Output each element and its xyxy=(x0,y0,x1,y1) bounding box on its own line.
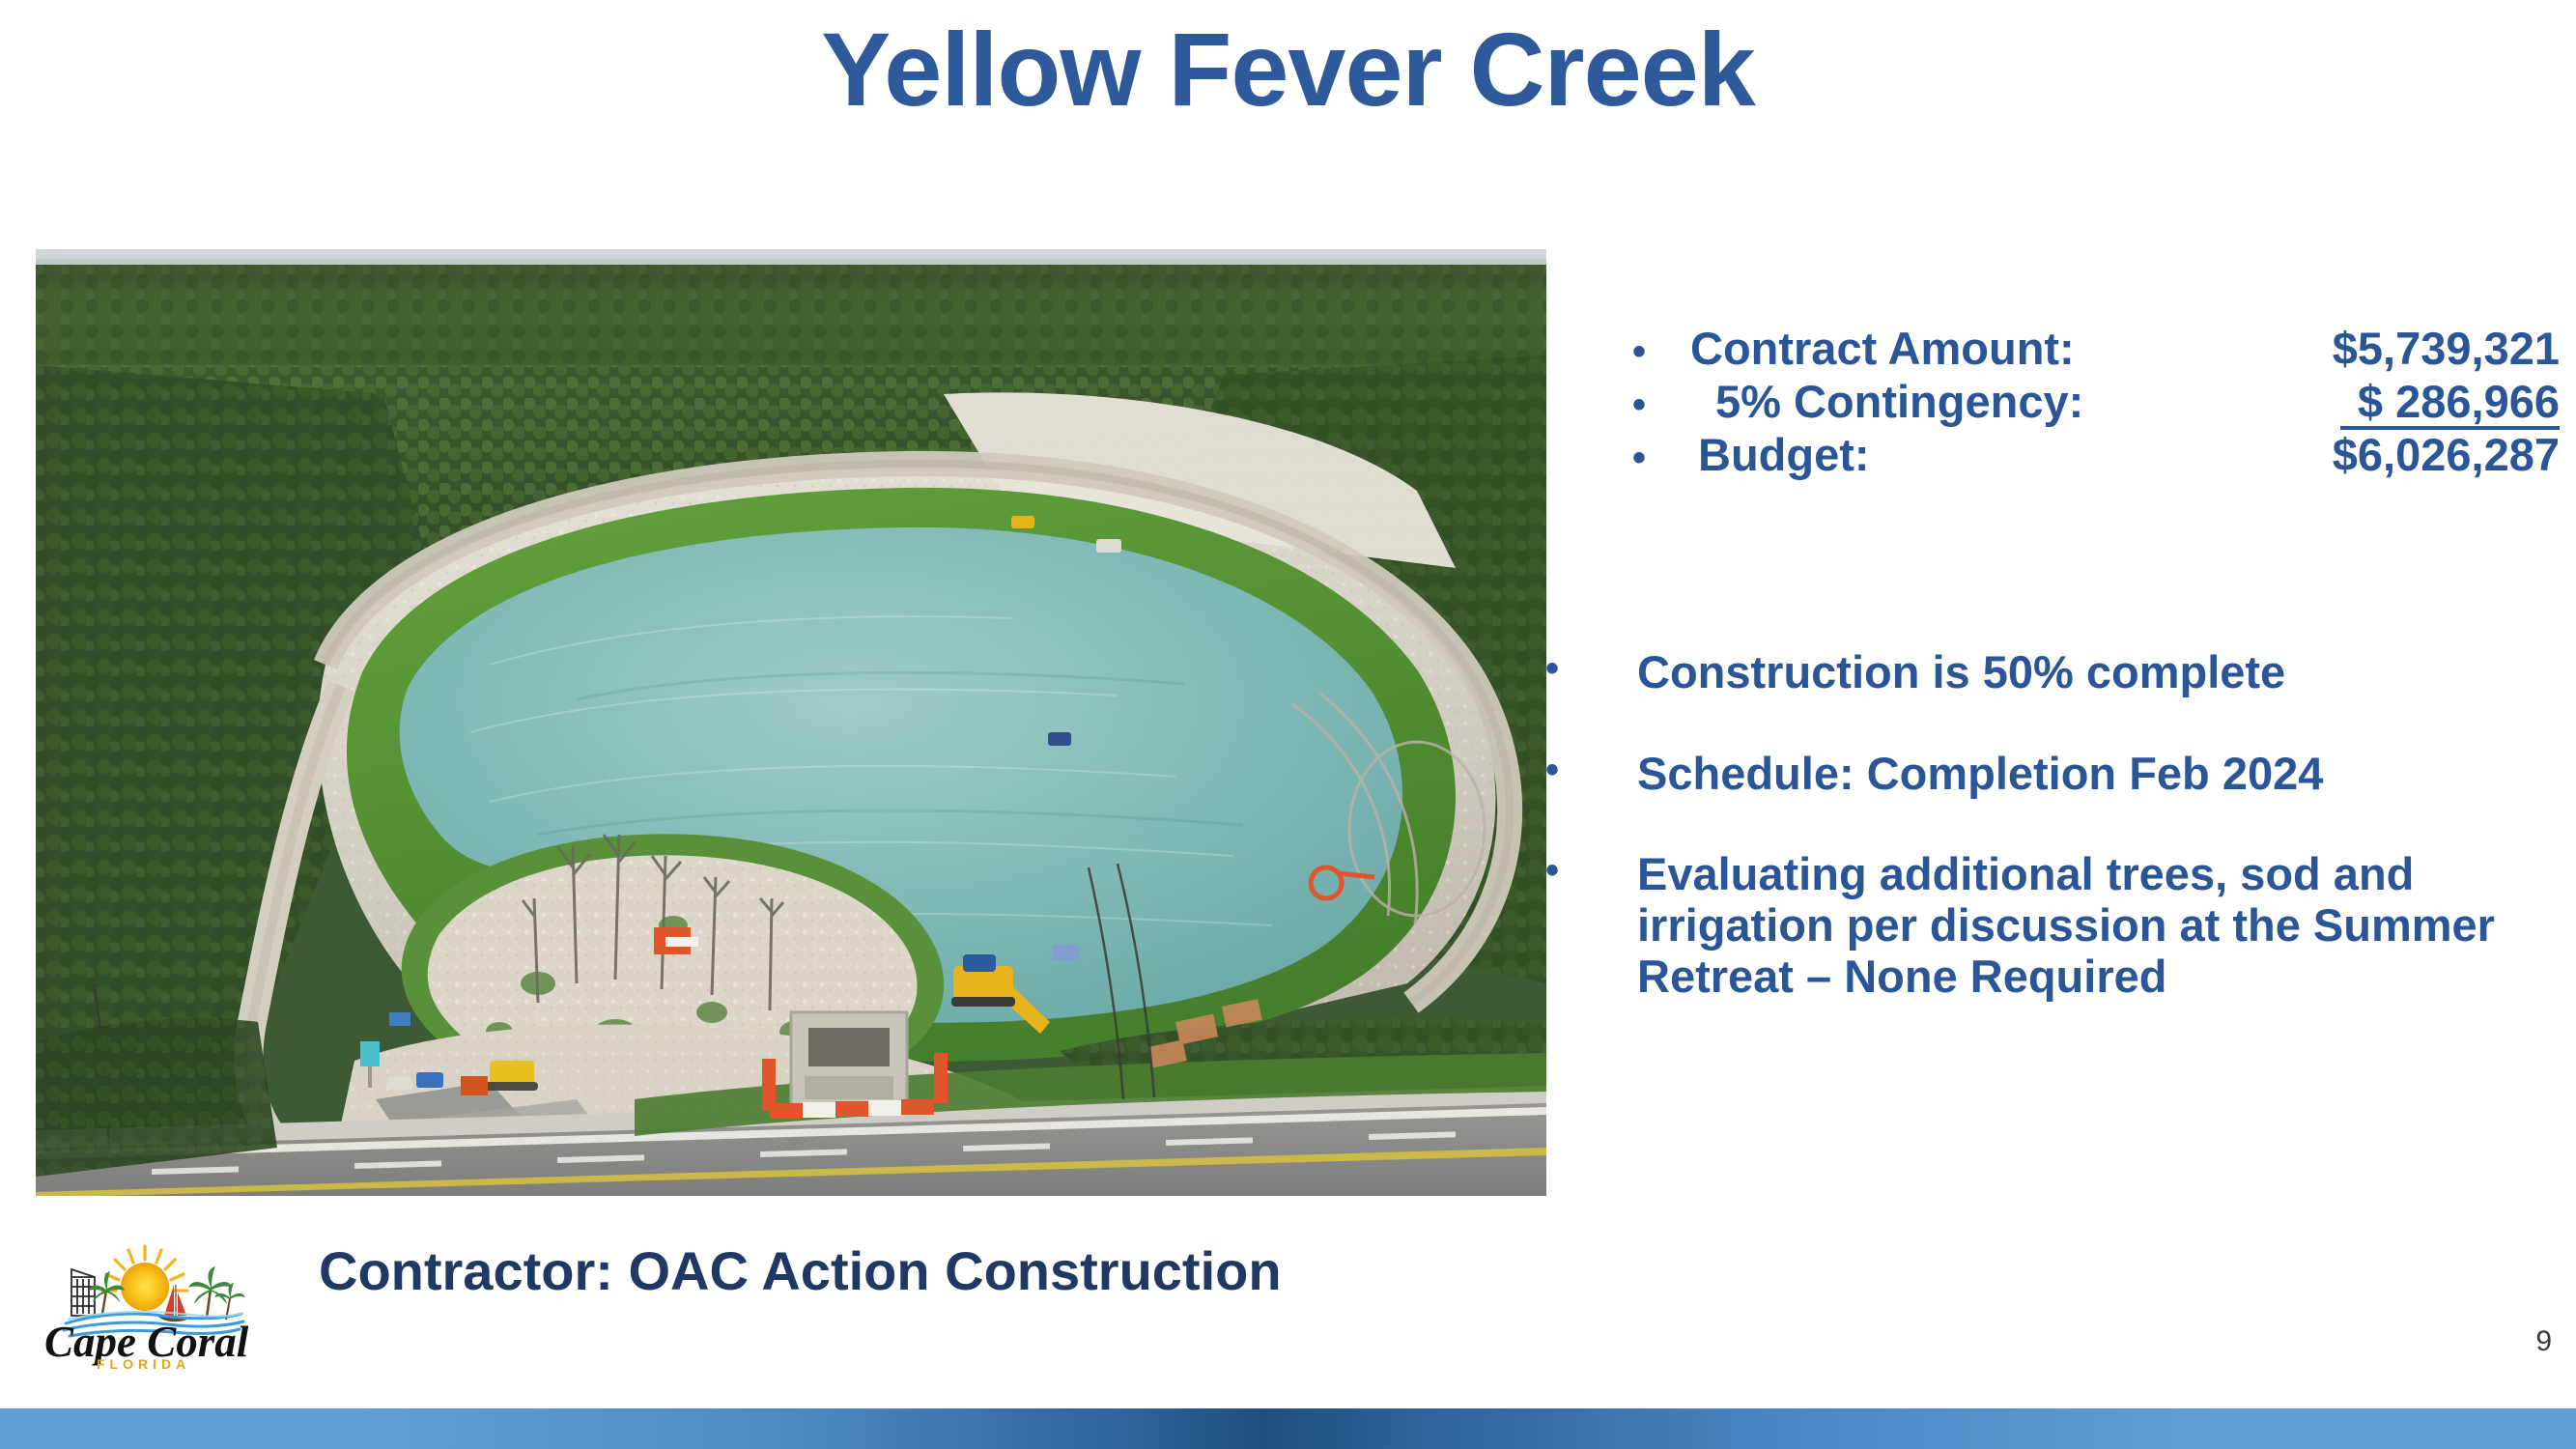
bullet-icon: • xyxy=(1632,385,1683,424)
bullet-icon: • xyxy=(1545,749,1637,792)
status-item-schedule: • Schedule: Completion Feb 2024 xyxy=(1545,749,2555,800)
bullet-icon: • xyxy=(1632,439,1683,477)
status-item-evaluation: • Evaluating additional trees, sod and i… xyxy=(1545,849,2555,1002)
status-text-progress: Construction is 50% complete xyxy=(1637,647,2555,698)
cape-coral-logo: Cape Coral FLORIDA xyxy=(37,1236,259,1372)
budget-value-total: $6,026,287 xyxy=(2315,432,2560,477)
logo-state-name: FLORIDA xyxy=(97,1356,190,1372)
bullet-icon: • xyxy=(1632,332,1683,371)
budget-row-total: • Budget: $6,026,287 xyxy=(1632,432,2560,485)
bullet-icon: • xyxy=(1545,849,1637,893)
aerial-photo xyxy=(36,249,1546,1196)
status-text-schedule: Schedule: Completion Feb 2024 xyxy=(1637,749,2555,800)
budget-bullet-list: • Contract Amount: $5,739,321 • 5% Conti… xyxy=(1632,326,2560,485)
page-title: Yellow Fever Creek xyxy=(0,10,2576,129)
status-bullet-list: • Construction is 50% complete • Schedul… xyxy=(1545,647,2555,1002)
budget-value-contingency: $ 286,966 xyxy=(2340,379,2560,430)
page-number: 9 xyxy=(2535,1325,2552,1358)
status-text-evaluation: Evaluating additional trees, sod and irr… xyxy=(1637,849,2555,1002)
footer-accent-bar xyxy=(0,1408,2576,1449)
aerial-photo-illustration xyxy=(36,249,1546,1196)
budget-row-contract: • Contract Amount: $5,739,321 xyxy=(1632,326,2560,379)
bullet-icon: • xyxy=(1545,647,1637,691)
budget-label-contract: Contract Amount: xyxy=(1683,326,2075,371)
cape-coral-logo-icon: Cape Coral FLORIDA xyxy=(37,1236,259,1372)
contractor-label: Contractor: OAC Action Construction xyxy=(319,1239,1282,1302)
budget-value-contract: $5,739,321 xyxy=(2315,326,2560,371)
budget-row-contingency: • 5% Contingency: $ 286,966 xyxy=(1632,379,2560,432)
budget-label-contingency: 5% Contingency: xyxy=(1683,379,2083,424)
status-item-progress: • Construction is 50% complete xyxy=(1545,647,2555,698)
budget-label-total: Budget: xyxy=(1683,432,1870,477)
